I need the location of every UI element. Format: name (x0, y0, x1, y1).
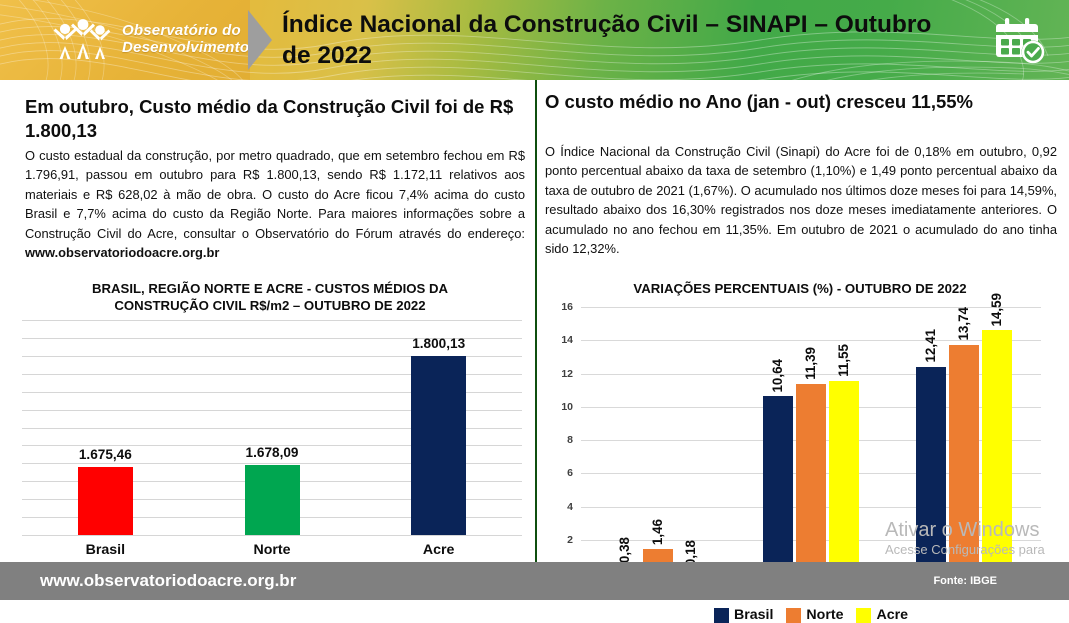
left-paragraph-text: O custo estadual da construção, por metr… (25, 148, 525, 241)
chart-1-title: BRASIL, REGIÃO NORTE E ACRE - CUSTOS MÉD… (45, 280, 495, 314)
chart-1-category-labels: BrasilNorteAcre (22, 542, 522, 558)
chart-2-bar-group: 10,6411,3911,55 (734, 307, 887, 573)
chart-1-bar-column: 1.678,09 (189, 320, 356, 535)
chart-2-legend-swatch (786, 608, 801, 623)
page-header: Observatório do Desenvolvimento Índice N… (0, 0, 1069, 80)
chart-2-legend: BrasilNorteAcre (581, 607, 1041, 623)
chart-2-y-axis: 0246810121416 (541, 307, 577, 573)
brand-logo-line1: Observatório do (122, 22, 249, 39)
chart-2-y-tick-label: 16 (537, 301, 573, 313)
chart-2-bar-wrapper: 14,59 (982, 307, 1012, 573)
brand-logo-text: Observatório do Desenvolvimento (122, 22, 249, 56)
people-raising-arms-icon (52, 16, 114, 62)
chart-1-bar (245, 465, 300, 535)
chart-2-bar-wrapper: 11,55 (829, 307, 859, 573)
right-headline: O custo médio no Ano (jan - out) cresceu… (545, 89, 1055, 114)
chart-2-y-tick-label: 4 (537, 501, 573, 513)
chart-2-legend-label: Acre (876, 607, 908, 623)
chart-2-bar (829, 381, 859, 573)
chart-2-bar (949, 345, 979, 573)
chart-1-bar-value-label: 1.800,13 (412, 336, 465, 351)
left-panel: Em outubro, Custo médio da Construção Ci… (0, 80, 535, 562)
chart-2-y-tick-label: 12 (537, 368, 573, 380)
chart-2-legend-item[interactable]: Acre (856, 607, 908, 623)
chart-2-legend-item[interactable]: Norte (786, 607, 843, 623)
chart-2-bar (982, 330, 1012, 573)
chart-2-bar-group: 12,4113,7414,59 (888, 307, 1041, 573)
chart-2-bar-value-label: 11,55 (836, 344, 851, 377)
chart-2-bar-wrapper: 0,38 (610, 307, 640, 573)
chart-2-y-tick-label: 14 (537, 334, 573, 346)
chart-2-bar-value-label: 11,39 (803, 347, 818, 380)
chart-2-bar (916, 367, 946, 573)
chart-2-bar-value-label: 0,38 (617, 537, 632, 563)
chart-1-bar-column: 1.800,13 (355, 320, 522, 535)
brand-logo: Observatório do Desenvolvimento (52, 16, 249, 62)
left-paragraph: O custo estadual da construção, por metr… (25, 146, 525, 262)
chart-2-legend-item[interactable]: Brasil (714, 607, 773, 623)
chart-2-bar-wrapper: 12,41 (916, 307, 946, 573)
chart-2-bar-wrapper: 11,39 (796, 307, 826, 573)
chart-1-bar (78, 467, 133, 535)
chart-2-legend-label: Brasil (734, 607, 773, 623)
chart-1-bar-value-label: 1.675,46 (79, 447, 132, 462)
calendar-check-icon (995, 17, 1047, 65)
page-footer: www.observatoriodoacre.org.br Fonte: IBG… (0, 562, 1069, 600)
chart-2-bar (796, 384, 826, 573)
chart-2-bar-wrapper: 10,64 (763, 307, 793, 573)
chart-2-bar-wrapper: 13,74 (949, 307, 979, 573)
chart-2-bar-value-label: 12,41 (923, 329, 938, 363)
chart-2-plot: 0,381,460,1810,6411,3911,5512,4113,7414,… (581, 307, 1041, 573)
chart-1-bar-value-label: 1.678,09 (246, 445, 299, 460)
chart-1-category-label: Acre (355, 542, 522, 558)
chart-1-category-label: Norte (189, 542, 356, 558)
chart-2-legend-label: Norte (806, 607, 843, 623)
chart-2-bar-value-label: 13,74 (956, 307, 971, 341)
left-headline: Em outubro, Custo médio da Construção Ci… (25, 95, 525, 143)
chart-1-plot: 1.675,461.678,091.800,13 (22, 320, 522, 535)
chart-2-y-tick-label: 6 (537, 467, 573, 479)
chart-2-bar-value-label: 1,46 (650, 519, 665, 545)
chart-1-category-label: Brasil (22, 542, 189, 558)
chart-2-title: VARIAÇÕES PERCENTUAIS (%) - OUTUBRO DE 2… (565, 280, 1035, 297)
page-title: Índice Nacional da Construção Civil – SI… (282, 9, 942, 71)
chart-2-bar-wrapper: 0,18 (676, 307, 706, 573)
chart-2-y-tick-label: 8 (537, 434, 573, 446)
chart-1-bar (411, 356, 466, 535)
chart-2-bar-value-label: 10,64 (770, 359, 785, 393)
chart-2-legend-swatch (714, 608, 729, 623)
chart-1-bars: 1.675,461.678,091.800,13 (22, 320, 522, 535)
right-panel: O custo médio no Ano (jan - out) cresceu… (537, 80, 1069, 562)
header-arrow-icon (246, 8, 276, 72)
chart-1-bar-column: 1.675,46 (22, 320, 189, 535)
chart-2-y-tick-label: 2 (537, 534, 573, 546)
chart-2-bar (763, 396, 793, 573)
brand-logo-line2: Desenvolvimento (122, 39, 249, 56)
footer-source: Fonte: IBGE (933, 575, 997, 587)
left-paragraph-url: www.observatoriodoacre.org.br (25, 245, 219, 260)
chart-2-bar-group: 0,381,460,18 (581, 307, 734, 573)
right-paragraph: O Índice Nacional da Construção Civil (S… (545, 142, 1057, 258)
footer-website-url[interactable]: www.observatoriodoacre.org.br (40, 571, 296, 591)
chart-2-legend-swatch (856, 608, 871, 623)
chart-2-y-tick-label: 10 (537, 401, 573, 413)
chart-2-bar-value-label: 14,59 (989, 293, 1004, 327)
chart-2-bar-wrapper: 1,46 (643, 307, 673, 573)
chart-2-bar-groups: 0,381,460,1810,6411,3911,5512,4113,7414,… (581, 307, 1041, 573)
